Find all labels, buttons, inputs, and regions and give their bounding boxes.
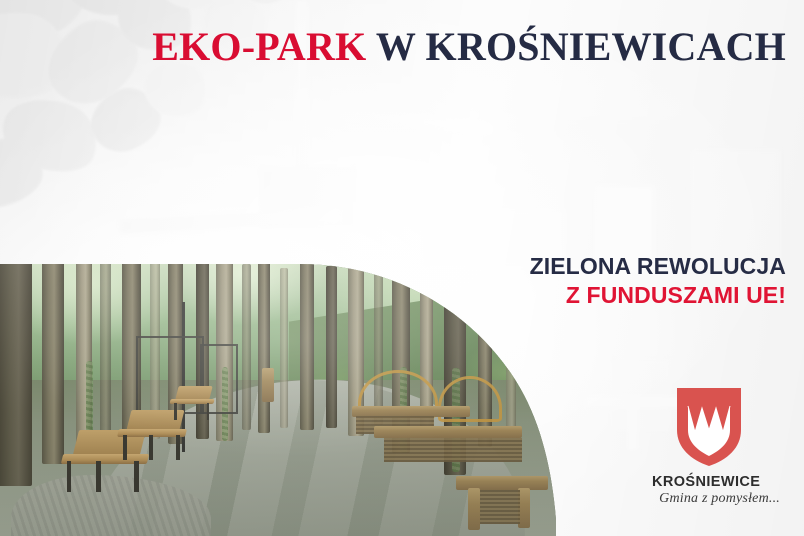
photo-color-grade	[0, 258, 556, 536]
poster-canvas: EKO-PARK W KROŚNIEWICACH ZIELONA REWOLUC…	[0, 0, 804, 536]
title-accent: EKO-PARK	[152, 24, 366, 69]
title-main: W KROŚNIEWICACH	[366, 24, 786, 69]
subtitle-line-1: ZIELONA REWOLUCJA	[530, 252, 786, 281]
logo-tagline: Gmina z pomysłem...	[630, 491, 788, 507]
logo-municipality-name: KROŚNIEWICE	[630, 474, 788, 490]
poster-subtitle: ZIELONA REWOLUCJA Z FUNDUSZAMI UE!	[530, 252, 786, 309]
park-photo	[0, 258, 556, 536]
municipality-logo: KROŚNIEWICE Gmina z pomysłem...	[630, 386, 788, 507]
poster-title: EKO-PARK W KROŚNIEWICACH	[0, 26, 786, 68]
shield-icon	[675, 386, 743, 468]
subtitle-line-2: Z FUNDUSZAMI UE!	[530, 281, 786, 310]
